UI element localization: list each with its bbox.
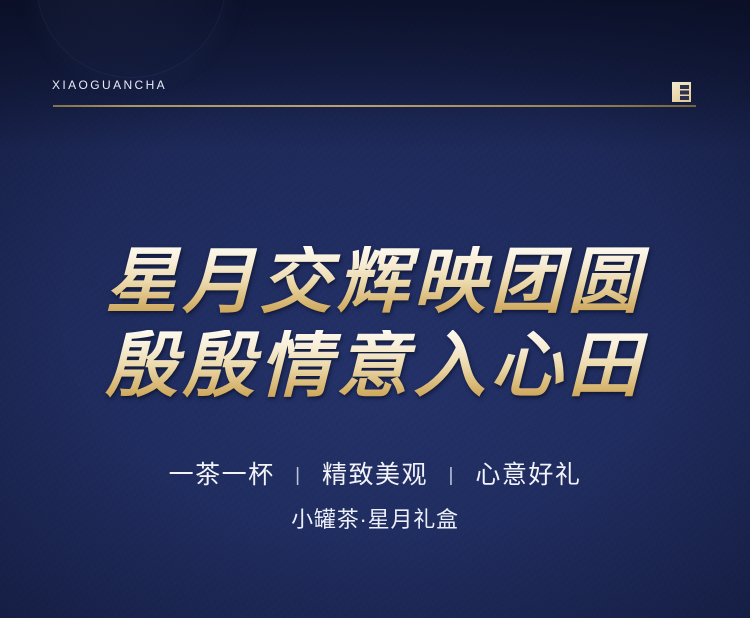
headline-line-1: 星月交辉映团圆 <box>0 246 750 318</box>
tagline-item-3: 心意好礼 <box>475 461 581 489</box>
brand-seal-icon <box>671 81 692 103</box>
tagline-item-2: 精致美观 <box>322 461 428 489</box>
tagline-separator-1: | <box>295 465 301 487</box>
brand-latin-wordmark: XIAOGUANCHA <box>52 78 167 92</box>
tagline-separator-2: | <box>448 465 454 487</box>
product-name: 小罐茶·星月礼盒 <box>0 502 750 534</box>
brand-seal-glyph <box>680 85 689 100</box>
poster-canvas: XIAOGUANCHA 星月交辉映团圆 殷殷情意入心田 一茶一杯 | 精致美观 … <box>0 0 750 618</box>
headline-block: 星月交辉映团圆 殷殷情意入心田 <box>0 246 750 402</box>
headline-line-2: 殷殷情意入心田 <box>0 330 750 402</box>
header-divider-rule <box>53 105 696 107</box>
poster-header: XIAOGUANCHA <box>52 78 696 118</box>
tagline-row: 一茶一杯 | 精致美观 | 心意好礼 <box>0 455 750 491</box>
tagline-item-1: 一茶一杯 <box>169 461 275 489</box>
